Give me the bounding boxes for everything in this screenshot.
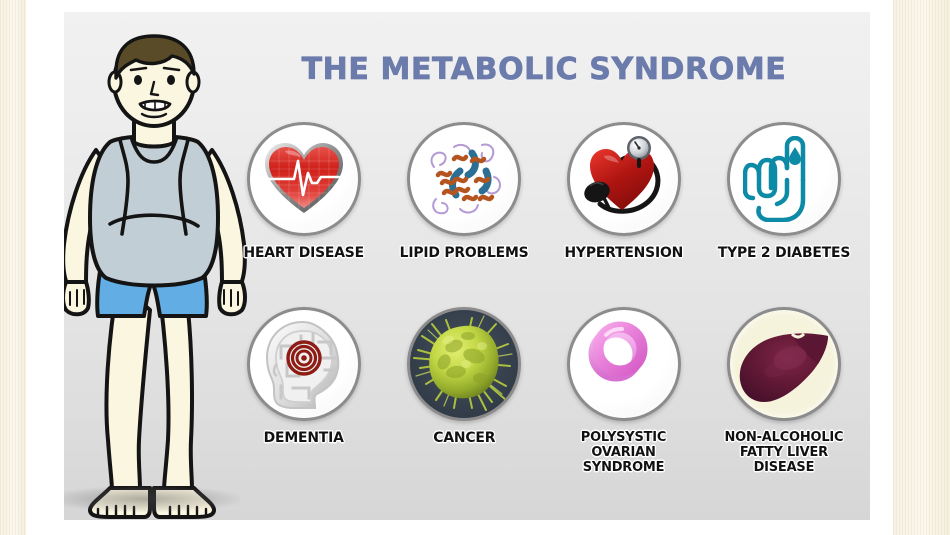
condition-label: TYPE 2 DIABETES <box>718 245 850 261</box>
condition-non-alcoholic-fatty-liver-disease[interactable]: NON-ALCOHOLIC FATTY LIVER DISEASE <box>704 307 864 475</box>
heart-ecg-icon[interactable] <box>247 122 361 236</box>
condition-polysystic-ovarian-syndrome[interactable]: POLYSYSTIC OVARIAN SYNDROME <box>544 307 704 475</box>
condition-label: LIPID PROBLEMS <box>400 245 529 261</box>
conditions-grid: HEART DISEASE <box>224 122 864 520</box>
finger-prick-blood-drop-icon[interactable] <box>727 122 841 236</box>
condition-hypertension[interactable]: HYPERTENSION <box>544 122 704 261</box>
condition-label: CANCER <box>433 430 495 446</box>
paper-texture-border-right <box>893 0 950 535</box>
condition-label: HEART DISEASE <box>244 245 364 261</box>
condition-label: NON-ALCOHOLIC FATTY LIVER DISEASE <box>725 430 844 475</box>
protein-ribbon-icon[interactable] <box>407 122 521 236</box>
head-maze-target-icon[interactable] <box>247 307 361 421</box>
liver-icon[interactable] <box>727 307 841 421</box>
condition-lipid-problems[interactable]: LIPID PROBLEMS <box>384 122 544 261</box>
slide-frame: THE METABOLIC SYNDROME <box>0 0 950 535</box>
condition-label: POLYSYSTIC OVARIAN SYNDROME <box>581 430 666 475</box>
conditions-row-1: HEART DISEASE <box>224 122 864 261</box>
figure-ground-shadow <box>64 486 240 512</box>
white-gutter-right <box>869 0 893 535</box>
paper-texture-border-left <box>0 0 26 535</box>
condition-type-2-diabetes[interactable]: TYPE 2 DIABETES <box>704 122 864 261</box>
tumor-cell-icon[interactable] <box>407 307 521 421</box>
white-gutter-left <box>26 0 64 535</box>
page-title: THE METABOLIC SYNDROME <box>234 52 854 87</box>
condition-heart-disease[interactable]: HEART DISEASE <box>224 122 384 261</box>
content-panel: THE METABOLIC SYNDROME <box>64 12 870 520</box>
conditions-row-2: DEMENTIA <box>224 307 864 475</box>
condition-label: DEMENTIA <box>264 430 344 446</box>
condition-label: HYPERTENSION <box>565 245 684 261</box>
condition-dementia[interactable]: DEMENTIA <box>224 307 384 475</box>
female-venus-symbol-icon[interactable] <box>567 307 681 421</box>
heart-blood-pressure-cuff-icon[interactable] <box>567 122 681 236</box>
condition-cancer[interactable]: CANCER <box>384 307 544 475</box>
